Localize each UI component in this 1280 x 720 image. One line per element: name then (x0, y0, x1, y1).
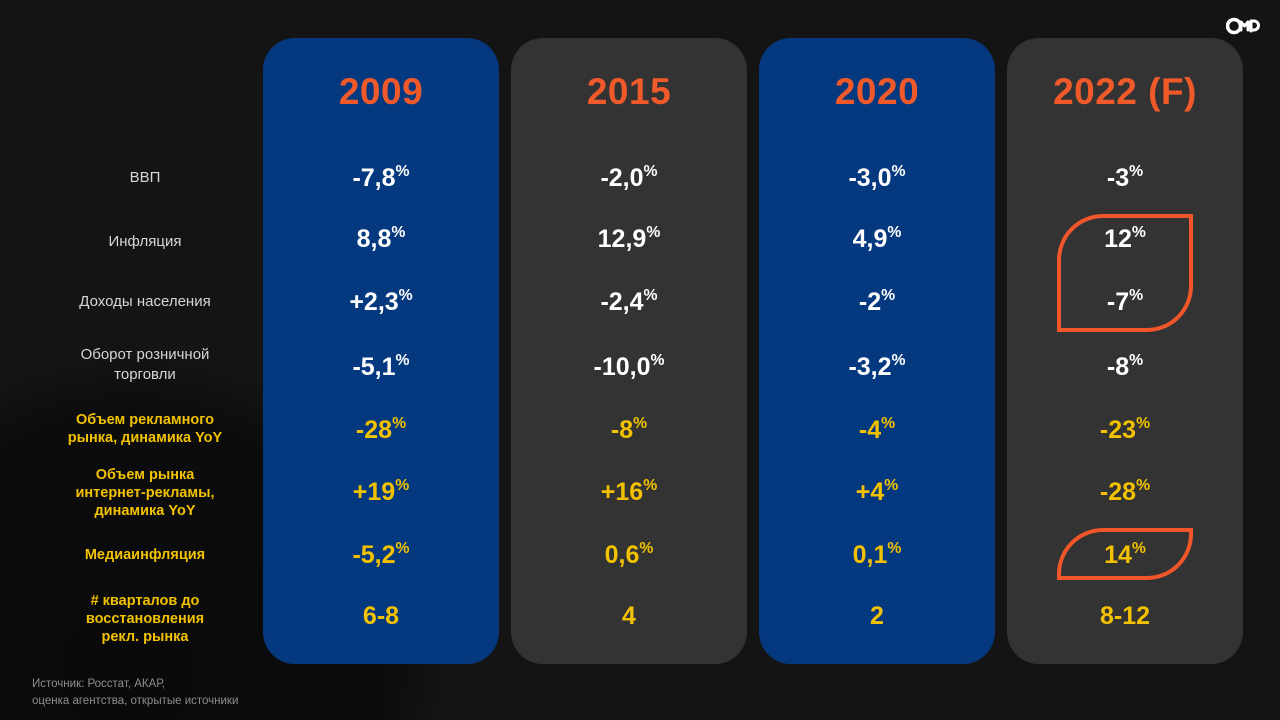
cell-2022f-gdp: -3% (1007, 163, 1243, 193)
row-label-ad-market: Объем рекламногорынка, динамика YoY (30, 411, 260, 447)
slide-root: 2009 2015 2020 2022 (F) ВВП Инфляция Дох… (0, 0, 1280, 720)
percent-sign: % (1129, 352, 1143, 369)
cell-2022f-mediainflation: 14% (1007, 540, 1243, 570)
percent-sign: % (1129, 287, 1143, 304)
percent-sign: % (646, 224, 660, 241)
percent-sign: % (1132, 224, 1146, 241)
cell-2009-retail: -5,1% (263, 352, 499, 382)
column-header-2022: 2022 (F) (1007, 66, 1243, 118)
row-label-mediainflation: Медиаинфляция (30, 546, 260, 564)
percent-sign: % (892, 163, 906, 180)
row-label-retail: Оборот розничнойторговли (30, 345, 260, 385)
cell-2022f-internet-ads: -28% (1007, 477, 1243, 507)
percent-sign: % (887, 224, 901, 241)
percent-sign: % (1129, 163, 1143, 180)
cell-2015-ad-market: -8% (511, 415, 747, 445)
percent-sign: % (396, 352, 410, 369)
percent-sign: % (396, 163, 410, 180)
cell-2009-internet-ads: +19% (263, 477, 499, 507)
percent-sign: % (884, 477, 898, 494)
cell-2015-incomes: -2,4% (511, 287, 747, 317)
row-label-recovery-quarters: # кварталов довосстановлениярекл. рынка (30, 592, 260, 646)
percent-sign: % (887, 540, 901, 557)
cell-2015-recovery-quarters: 4 (511, 602, 747, 631)
cell-2015-mediainflation: 0,6% (511, 540, 747, 570)
source-line-2: оценка агентства, открытые источники (32, 693, 238, 710)
cell-2009-inflation: 8,8% (263, 224, 499, 254)
row-label-internet-ads: Объем рынкаинтернет-рекламы,динамика YoY (30, 466, 260, 520)
percent-sign: % (644, 287, 658, 304)
percent-sign: % (643, 477, 657, 494)
cell-2020-gdp: -3,0% (759, 163, 995, 193)
source-note: Источник: Росстат, АКАР, оценка агентств… (32, 676, 238, 710)
percent-sign: % (633, 415, 647, 432)
cell-2009-incomes: +2,3% (263, 287, 499, 317)
cell-2022f-ad-market: -23% (1007, 415, 1243, 445)
row-label-gdp: ВВП (30, 168, 260, 188)
cell-2009-mediainflation: -5,2% (263, 540, 499, 570)
percent-sign: % (892, 352, 906, 369)
percent-sign: % (399, 287, 413, 304)
cell-2020-retail: -3,2% (759, 352, 995, 382)
cell-2020-inflation: 4,9% (759, 224, 995, 254)
cell-2022f-retail: -8% (1007, 352, 1243, 382)
percent-sign: % (881, 415, 895, 432)
row-label-incomes: Доходы населения (30, 292, 260, 312)
percent-sign: % (391, 224, 405, 241)
cell-2009-gdp: -7,8% (263, 163, 499, 193)
cell-2020-recovery-quarters: 2 (759, 602, 995, 631)
percent-sign: % (881, 287, 895, 304)
column-header-2020: 2020 (759, 66, 995, 118)
column-header-2015: 2015 (511, 66, 747, 118)
percent-sign: % (1132, 540, 1146, 557)
cell-2022f-incomes: -7% (1007, 287, 1243, 317)
cell-2009-ad-market: -28% (263, 415, 499, 445)
percent-sign: % (1136, 477, 1150, 494)
cell-2015-internet-ads: +16% (511, 477, 747, 507)
percent-sign: % (392, 415, 406, 432)
cell-2015-inflation: 12,9% (511, 224, 747, 254)
percent-sign: % (395, 477, 409, 494)
cell-2020-ad-market: -4% (759, 415, 995, 445)
cell-2022f-inflation: 12% (1007, 224, 1243, 254)
percent-sign: % (639, 540, 653, 557)
cell-2015-gdp: -2,0% (511, 163, 747, 193)
percent-sign: % (650, 352, 664, 369)
cell-2020-internet-ads: +4% (759, 477, 995, 507)
row-label-inflation: Инфляция (30, 232, 260, 252)
percent-sign: % (644, 163, 658, 180)
cell-2009-recovery-quarters: 6-8 (263, 602, 499, 631)
percent-sign: % (396, 540, 410, 557)
cell-2020-incomes: -2% (759, 287, 995, 317)
column-header-2009: 2009 (263, 66, 499, 118)
cell-2015-retail: -10,0% (511, 352, 747, 382)
source-line-1: Источник: Росстат, АКАР, (32, 676, 238, 693)
cell-2022f-recovery-quarters: 8-12 (1007, 602, 1243, 631)
percent-sign: % (1136, 415, 1150, 432)
cell-2020-mediainflation: 0,1% (759, 540, 995, 570)
